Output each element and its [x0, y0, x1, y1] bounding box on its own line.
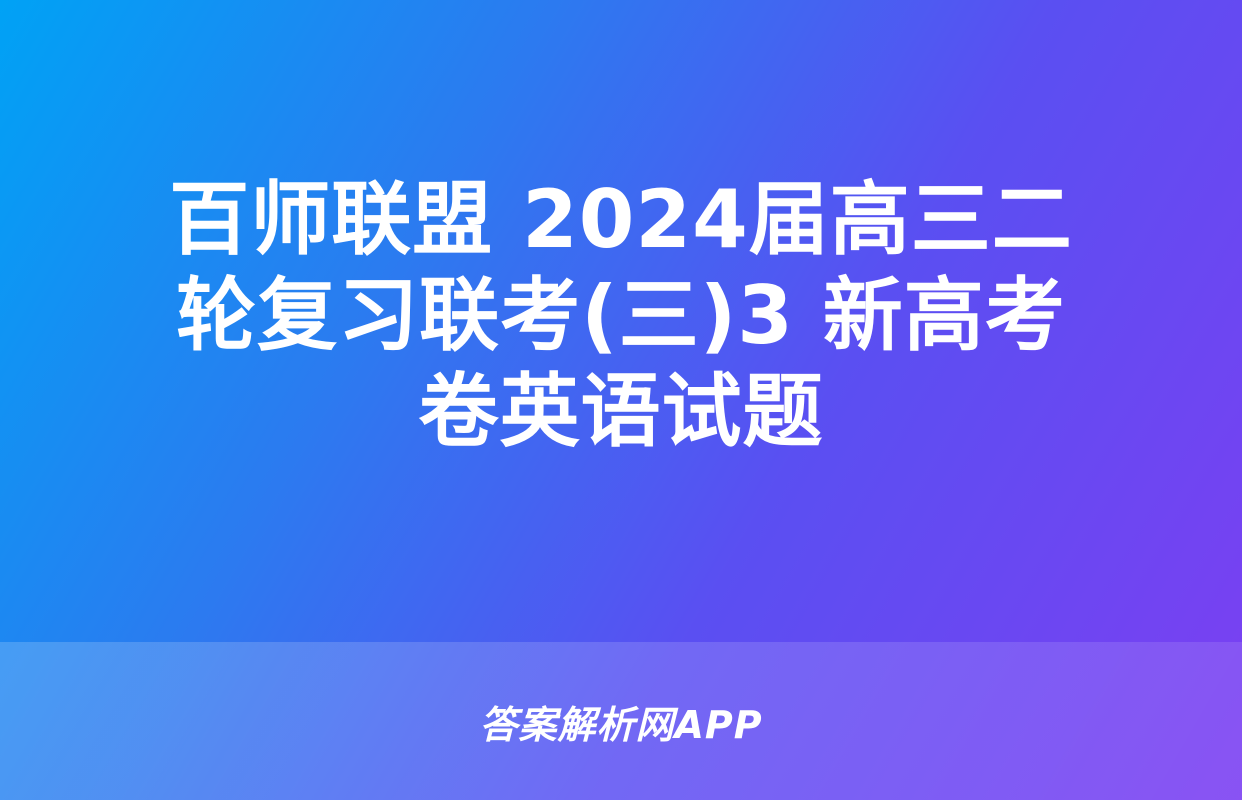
- footer-band: 答案解析网APP: [0, 642, 1242, 800]
- title-line-2: 轮复习联考(三)3 新高考: [66, 268, 1176, 364]
- page-title: 百师联盟 2024届高三二 轮复习联考(三)3 新高考 卷英语试题: [66, 172, 1176, 460]
- title-line-1: 百师联盟 2024届高三二: [66, 172, 1176, 268]
- title-line-3: 卷英语试题: [66, 364, 1176, 460]
- poster-banner: 百师联盟 2024届高三二 轮复习联考(三)3 新高考 卷英语试题 答案解析网A…: [0, 0, 1242, 800]
- app-watermark: 答案解析网APP: [479, 694, 762, 749]
